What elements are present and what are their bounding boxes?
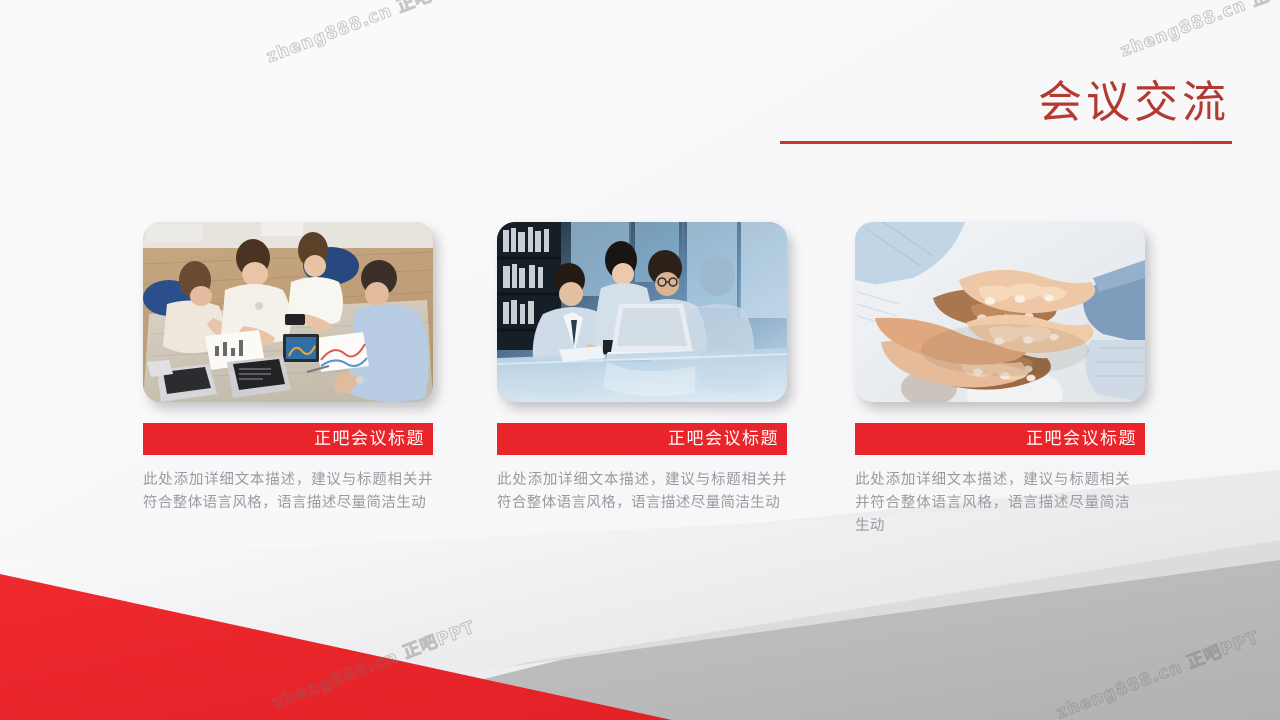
card-title-label: 正吧会议标题 — [1026, 429, 1137, 449]
photo-business-meeting-laptop[interactable] — [497, 222, 787, 402]
card-title-label: 正吧会议标题 — [314, 429, 425, 449]
photo-stacked-hands-teamwork[interactable] — [855, 222, 1145, 402]
card-2[interactable]: 正吧会议标题 此处添加详细文本描述，建议与标题相关并符合整体语言风格，语言描述尽… — [497, 222, 787, 515]
card-3[interactable]: 正吧会议标题 此处添加详细文本描述，建议与标题相关并符合整体语言风格，语言描述尽… — [855, 222, 1145, 538]
card-title-label: 正吧会议标题 — [668, 429, 779, 449]
card-title-bar-3[interactable]: 正吧会议标题 — [855, 423, 1145, 455]
card-1[interactable]: 正吧会议标题 此处添加详细文本描述，建议与标题相关并符合整体语言风格，语言描述尽… — [143, 222, 433, 515]
card-row: 正吧会议标题 此处添加详细文本描述，建议与标题相关并符合整体语言风格，语言描述尽… — [0, 0, 1280, 720]
card-description: 此处添加详细文本描述，建议与标题相关并符合整体语言风格，语言描述尽量简洁生动 — [497, 469, 787, 515]
photo-team-meeting-table[interactable] — [143, 222, 433, 402]
card-title-bar-1[interactable]: 正吧会议标题 — [143, 423, 433, 455]
card-description: 此处添加详细文本描述，建议与标题相关并符合整体语言风格，语言描述尽量简洁生动 — [143, 469, 433, 515]
card-description: 此处添加详细文本描述，建议与标题相关并符合整体语言风格，语言描述尽量简洁生动 — [855, 469, 1130, 538]
slide-canvas: zheng888.cn 正吧PPT zheng888.cn 正吧PPT zhen… — [0, 0, 1280, 720]
card-title-bar-2[interactable]: 正吧会议标题 — [497, 423, 787, 455]
